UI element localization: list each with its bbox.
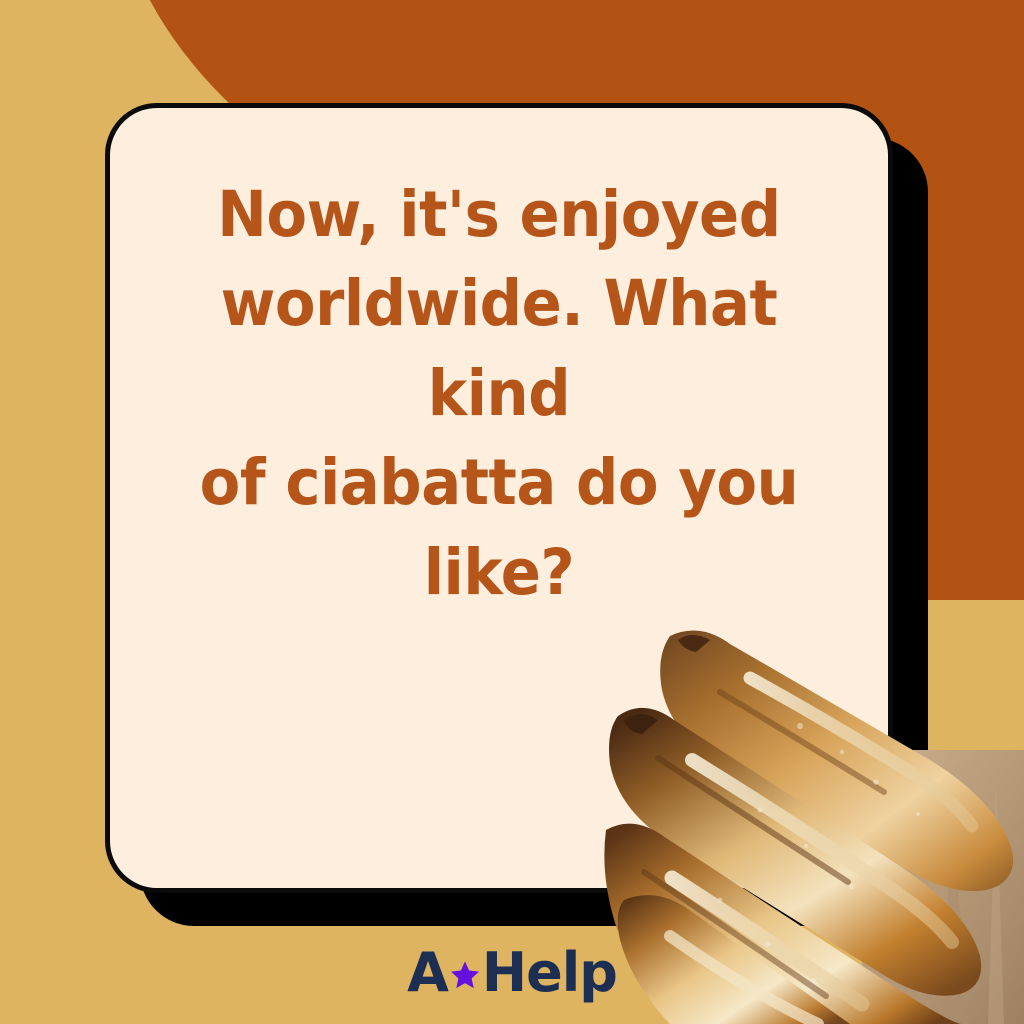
logo-text-suffix: Help — [482, 946, 617, 1000]
poster-canvas: Now, it's enjoyed worldwide. What kind o… — [0, 0, 1024, 1024]
content-card: Now, it's enjoyed worldwide. What kind o… — [105, 103, 893, 893]
brand-logo[interactable]: A Help — [0, 946, 1024, 1000]
logo-inner: A Help — [407, 946, 617, 1000]
logo-text-prefix: A — [407, 946, 448, 1000]
orange-blob-fill-top — [250, 0, 1024, 120]
headline-text: Now, it's enjoyed worldwide. What kind o… — [133, 170, 864, 617]
star-icon — [450, 960, 480, 990]
